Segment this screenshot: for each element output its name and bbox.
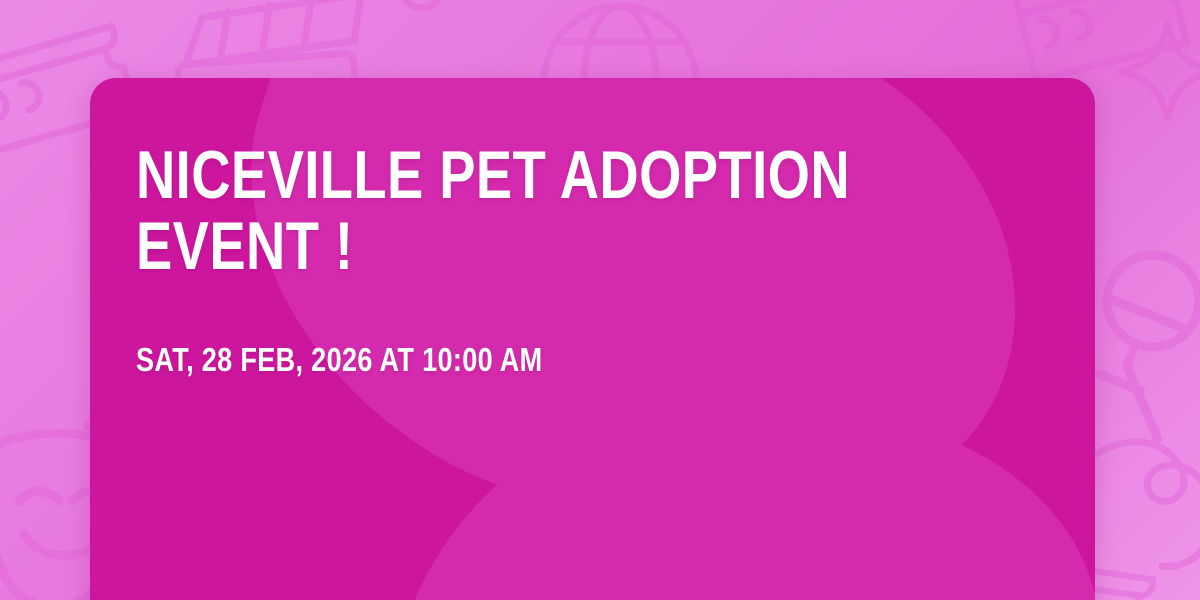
page-title: Niceville Pet Adoption Event ! bbox=[136, 140, 1035, 281]
event-datetime: Sat, 28 Feb, 2026 at 10:00 AM bbox=[136, 281, 1035, 379]
event-card[interactable]: Niceville Pet Adoption Event ! Sat, 28 F… bbox=[90, 78, 1095, 600]
circle-outline-icon bbox=[402, 0, 442, 8]
event-banner: Niceville Pet Adoption Event ! Sat, 28 F… bbox=[0, 0, 1200, 600]
card-content: Niceville Pet Adoption Event ! Sat, 28 F… bbox=[136, 140, 1035, 379]
